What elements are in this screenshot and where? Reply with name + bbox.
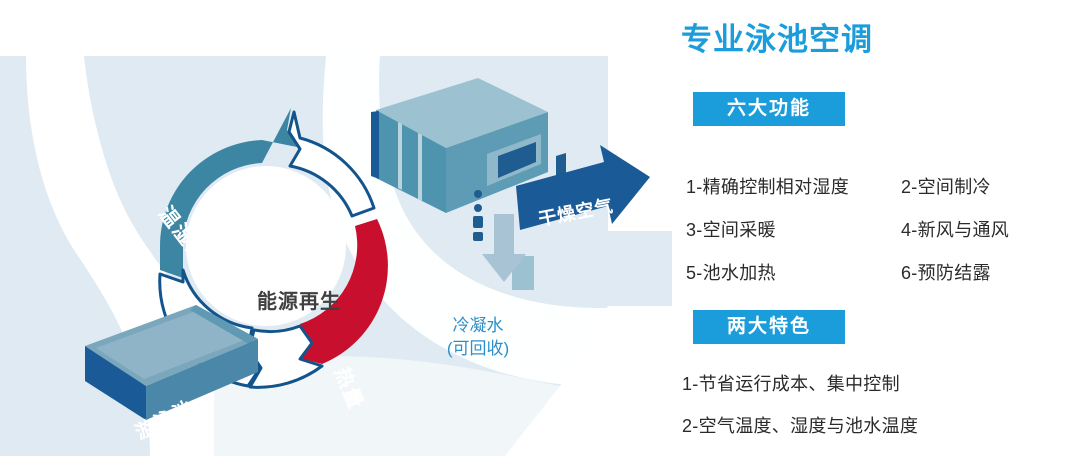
label-condensate: 冷凝水 (可回收): [447, 314, 509, 360]
ahu-control-slot-1: [473, 216, 483, 228]
features-list: 1-节省运行成本、集中控制 2-空气温度、湿度与池水温度: [682, 362, 1076, 446]
ahu-panel-divider-1: [398, 122, 402, 190]
page-title: 专业泳池空调: [681, 14, 873, 59]
function-item: 2-空间制冷: [901, 173, 1076, 199]
feature-item: 2-空气温度、湿度与池水温度: [682, 412, 918, 438]
function-item: 3-空间采暖: [686, 216, 901, 242]
feature-row: 1-节省运行成本、集中控制: [682, 362, 1076, 404]
ahu-control-dot-2: [474, 204, 482, 212]
function-item: 1-精确控制相对湿度: [686, 173, 901, 199]
ahu-control-slot-2: [473, 232, 483, 241]
functions-row: 1-精确控制相对湿度 2-空间制冷: [686, 164, 1076, 207]
slide-root: 温湿空气 热量 游泳池 干燥空气 能源再生 冷凝水 (可回收) 专业泳池空调 六…: [0, 0, 1080, 456]
content-column: 专业泳池空调 六大功能 1-精确控制相对湿度 2-空间制冷 3-空间采暖 4-新…: [672, 0, 1080, 456]
label-condensate-line1: 冷凝水: [447, 314, 509, 337]
illustration-panel: 温湿空气 热量 游泳池 干燥空气 能源再生 冷凝水 (可回收): [0, 56, 672, 456]
ahu-left-edge: [371, 111, 379, 179]
functions-row: 5-池水加热 6-预防结露: [686, 250, 1076, 293]
function-item: 5-池水加热: [686, 259, 901, 285]
functions-row: 3-空间采暖 4-新风与通风: [686, 207, 1076, 250]
section-badge-functions: 六大功能: [693, 92, 845, 126]
function-item: 6-预防结露: [901, 259, 1076, 285]
label-energy-regeneration: 能源再生: [257, 285, 341, 314]
feature-item: 1-节省运行成本、集中控制: [682, 370, 900, 396]
process-diagram-svg: [0, 56, 672, 456]
ahu-panel-divider-2: [418, 133, 422, 201]
section-badge-features: 两大特色: [693, 310, 845, 344]
function-item: 4-新风与通风: [901, 216, 1076, 242]
label-condensate-line2: (可回收): [447, 337, 509, 360]
feature-row: 2-空气温度、湿度与池水温度: [682, 404, 1076, 446]
ahu-control-dot-1: [474, 190, 482, 198]
functions-grid: 1-精确控制相对湿度 2-空间制冷 3-空间采暖 4-新风与通风 5-池水加热 …: [686, 164, 1076, 293]
